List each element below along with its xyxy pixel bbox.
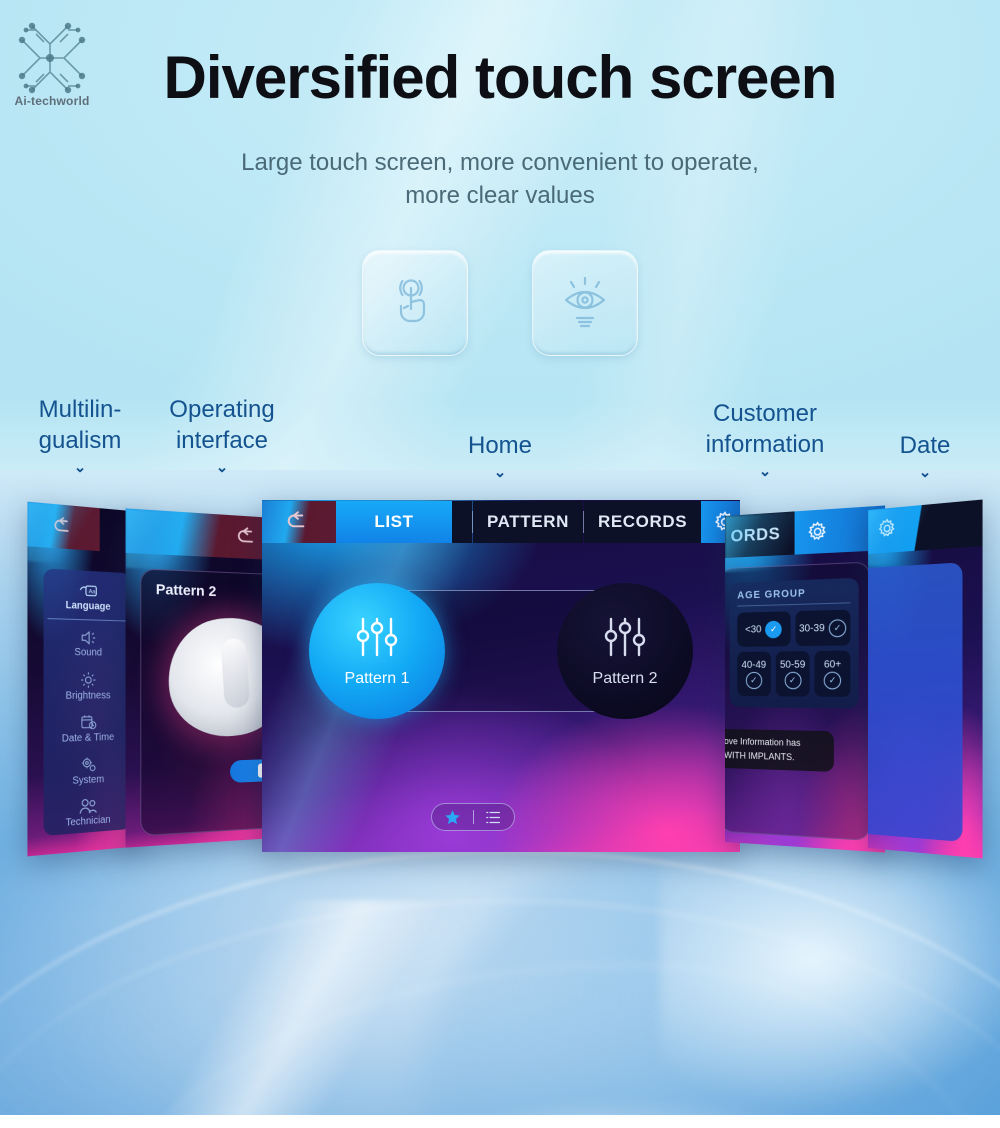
- menu-item-label: Brightness: [66, 690, 111, 702]
- star-icon[interactable]: [433, 804, 473, 830]
- menu-item-label: Technician: [66, 814, 111, 829]
- menu-item-brightness[interactable]: Brightness: [44, 664, 132, 707]
- svg-text:Aa: Aa: [89, 589, 97, 596]
- touch-hand-icon: [386, 272, 444, 335]
- notice-line-2: WITH IMPLANTS.: [725, 748, 826, 765]
- callout-line-1: Customer: [713, 400, 817, 427]
- menu-item-label: Language: [66, 600, 111, 613]
- chevron-down-icon: ⌄: [420, 465, 580, 480]
- pattern-card: Pattern 2 A: [140, 568, 275, 836]
- menu-item-date-time[interactable]: Date & Time: [44, 706, 132, 750]
- callout-operating-interface[interactable]: Operating interface ⌄: [148, 394, 296, 475]
- check-icon: ✓: [829, 619, 846, 637]
- page-subtitle: Large touch screen, more convenient to o…: [0, 146, 1000, 212]
- poster-stage: Ai-techworld Diversified touch screen La…: [0, 0, 1000, 1128]
- list-icon[interactable]: [474, 804, 514, 830]
- records-screen-panel[interactable]: ORDS AGE GROUP <30 ✓: [725, 505, 885, 852]
- age-option-60-plus[interactable]: 60+ ✓: [815, 651, 850, 697]
- view-mode-toggle[interactable]: [431, 803, 515, 831]
- eye-vision-icon: [556, 272, 614, 335]
- pattern-detail-screen-panel[interactable]: Pattern 2 A: [126, 508, 275, 847]
- menu-item-language[interactable]: Aa Language: [44, 575, 132, 621]
- back-arrow-icon[interactable]: [27, 502, 99, 552]
- age-option-50-59[interactable]: 50-59 ✓: [776, 651, 810, 697]
- tab-records[interactable]: ORDS: [725, 511, 794, 558]
- home-topbar: [868, 500, 983, 554]
- menu-item-label: Date & Time: [62, 731, 114, 744]
- chevron-down-icon: ⌄: [862, 465, 988, 480]
- callout-line-1: Operating: [169, 396, 274, 423]
- menu-item-label: System: [72, 773, 104, 786]
- menu-item-label: Sound: [74, 646, 102, 658]
- records-card: AGE GROUP <30 ✓ 30-39 ✓: [725, 561, 870, 841]
- age-option-label: <30: [745, 624, 761, 635]
- device-illustration: [160, 611, 275, 746]
- age-group-title: AGE GROUP: [737, 587, 850, 602]
- callout-line-1: Home: [468, 432, 532, 459]
- pattern-topbar: [126, 508, 275, 560]
- pattern-option-label: Pattern 2: [593, 670, 658, 688]
- age-option-label: 40-49: [742, 659, 767, 670]
- records-topbar: ORDS: [725, 505, 885, 558]
- tab-list[interactable]: LIST: [336, 501, 452, 543]
- callout-row: Multilin- gualism ⌄ Operating interface …: [0, 386, 1000, 476]
- check-icon: ✓: [746, 671, 762, 688]
- wave-edge-light: [0, 900, 600, 1128]
- callout-line-2: gualism: [39, 427, 122, 454]
- page-title: Diversified touch screen: [0, 48, 1000, 108]
- age-group-row-2: 40-49 ✓ 50-59 ✓ 60+ ✓: [737, 651, 850, 697]
- chevron-down-icon: ⌄: [10, 460, 150, 475]
- pattern-option-1[interactable]: Pattern 1: [309, 583, 445, 719]
- callout-multilingualism[interactable]: Multilin- gualism ⌄: [10, 394, 150, 475]
- callout-line-2: interface: [176, 427, 268, 454]
- gear-icon[interactable]: [877, 516, 897, 545]
- subtitle-line-2: more clear values: [405, 182, 594, 209]
- device-screen-row: Aa Language Sound: [0, 500, 1000, 860]
- home-screen-panel[interactable]: [868, 500, 983, 859]
- callout-date[interactable]: Date ⌄: [862, 430, 988, 480]
- tab-records[interactable]: RECORDS: [584, 501, 701, 543]
- feature-icon-row: [0, 250, 1000, 356]
- tab-pattern[interactable]: PATTERN: [473, 501, 583, 543]
- touch-feature-tile: [362, 250, 468, 356]
- age-group-row-1: <30 ✓ 30-39 ✓: [737, 610, 850, 647]
- menu-item-sound[interactable]: Sound: [44, 621, 132, 665]
- settings-menu[interactable]: Aa Language Sound: [44, 568, 132, 836]
- chevron-down-icon: ⌄: [672, 464, 858, 479]
- home-content-card: [868, 562, 962, 842]
- age-option-label: 60+: [824, 659, 841, 671]
- records-notice: ove Information has WITH IMPLANTS.: [725, 729, 834, 772]
- check-icon: ✓: [765, 620, 782, 638]
- vision-feature-tile: [532, 250, 638, 356]
- age-group-divider: [737, 602, 850, 606]
- list-screen-panel[interactable]: LIST PATTERN RECORDS: [262, 500, 740, 852]
- check-icon: ✓: [824, 671, 841, 689]
- pattern-card-title: Pattern 2: [156, 581, 216, 600]
- age-option-label: 50-59: [780, 659, 805, 670]
- pattern-selector[interactable]: Pattern 1 Pattern 2: [312, 590, 690, 712]
- bottom-margin: [0, 1115, 1000, 1128]
- tab-spacer: [452, 501, 472, 543]
- age-option-40-49[interactable]: 40-49 ✓: [737, 652, 770, 697]
- back-arrow-icon[interactable]: [262, 501, 336, 543]
- age-option-under-30[interactable]: <30 ✓: [737, 611, 790, 647]
- sliders-icon: [602, 615, 648, 664]
- sliders-icon: [354, 615, 400, 664]
- menu-item-technician[interactable]: Technician: [44, 789, 132, 837]
- check-icon: ✓: [784, 671, 801, 689]
- age-option-label: 30-39: [799, 622, 825, 634]
- callout-line-2: information: [706, 431, 825, 458]
- back-arrow-icon[interactable]: [126, 508, 275, 560]
- menu-item-system[interactable]: System: [44, 747, 132, 793]
- pattern-option-2[interactable]: Pattern 2: [557, 583, 693, 719]
- center-topbar: LIST PATTERN RECORDS: [262, 500, 740, 544]
- callout-home[interactable]: Home ⌄: [420, 430, 580, 480]
- callout-customer-information[interactable]: Customer information ⌄: [672, 398, 858, 479]
- callout-line-1: Date: [900, 432, 951, 459]
- chevron-down-icon: ⌄: [148, 460, 296, 475]
- age-option-30-39[interactable]: 30-39 ✓: [795, 610, 850, 646]
- age-group-box: AGE GROUP <30 ✓ 30-39 ✓: [730, 578, 859, 709]
- callout-line-1: Multilin-: [39, 396, 122, 423]
- pattern-option-label: Pattern 1: [345, 670, 410, 688]
- subtitle-line-1: Large touch screen, more convenient to o…: [241, 149, 759, 176]
